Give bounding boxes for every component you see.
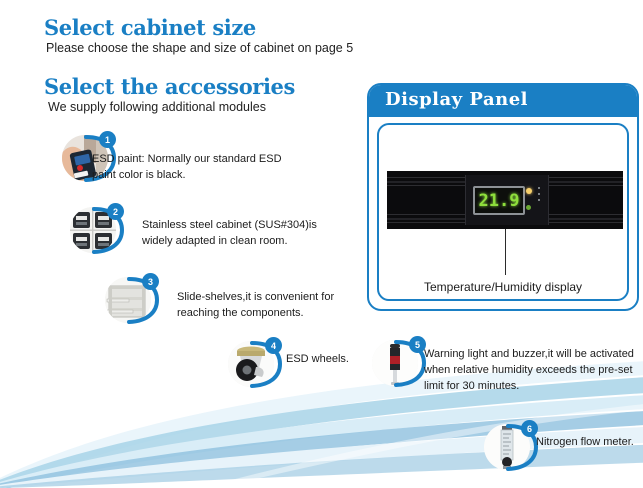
accessory-text-line: Nitrogen flow meter. (536, 434, 643, 450)
item-number-badge: 3 (142, 273, 159, 290)
accessory-thumbnail: 6 (484, 420, 536, 472)
brochure-page: Select cabinet size Please choose the sh… (0, 0, 643, 488)
accessory-text-line: Warning light and buzzer,it will be acti… (424, 346, 639, 362)
indicator-dot-icon (538, 187, 540, 189)
display-panel-body: 21.9 Temperature/Humidity display (377, 123, 629, 301)
callout-leader-line (505, 229, 506, 275)
accessory-thumbnail: 3 (105, 273, 157, 325)
accessory-thumbnail: 4 (228, 337, 280, 389)
accessory-text-line: ESD paint: Normally our standard ESD (92, 151, 342, 167)
item-number-badge: 4 (265, 337, 282, 354)
display-panel-card: Display Panel 21.9 Tempera (367, 83, 639, 311)
section-heading-cabinet: Select cabinet size (44, 15, 256, 40)
accessory-text-line: widely adapted in clean room. (142, 233, 392, 249)
indicator-dot-icon (538, 193, 540, 195)
item-number-badge: 2 (107, 203, 124, 220)
accessory-text-line: paint color is black. (92, 167, 342, 183)
accessory-text: ESD paint: Normally our standard ESD pai… (92, 151, 342, 183)
lcd-readout: 21.9 (473, 186, 525, 215)
accessory-thumbnail: 2 (70, 203, 122, 255)
display-panel-title: Display Panel (385, 89, 528, 110)
accessory-text-line: limit for 30 minutes. (424, 378, 639, 394)
accessory-text-line: when relative humidity exceeds the pre-s… (424, 362, 639, 378)
accessory-text: Stainless steel cabinet (SUS#304)is wide… (142, 217, 392, 249)
section-subtitle-accessories: We supply following additional modules (48, 100, 266, 114)
item-number-badge: 1 (99, 131, 116, 148)
accessory-text: Nitrogen flow meter. (536, 434, 643, 450)
section-subtitle-cabinet: Please choose the shape and size of cabi… (46, 41, 353, 55)
amber-led-icon (526, 188, 532, 194)
accessory-text-line: Stainless steel cabinet (SUS#304)is (142, 217, 392, 233)
green-led-icon (526, 205, 531, 210)
indicator-dot-icon (538, 199, 540, 201)
section-heading-accessories: Select the accessories (44, 74, 295, 99)
display-panel-caption: Temperature/Humidity display (379, 280, 627, 294)
accessory-thumbnail: 5 (372, 336, 424, 388)
cabinet-front-strip-photo: 21.9 (387, 171, 623, 229)
controller-module: 21.9 (465, 175, 549, 225)
accessory-text: Warning light and buzzer,it will be acti… (424, 346, 639, 394)
